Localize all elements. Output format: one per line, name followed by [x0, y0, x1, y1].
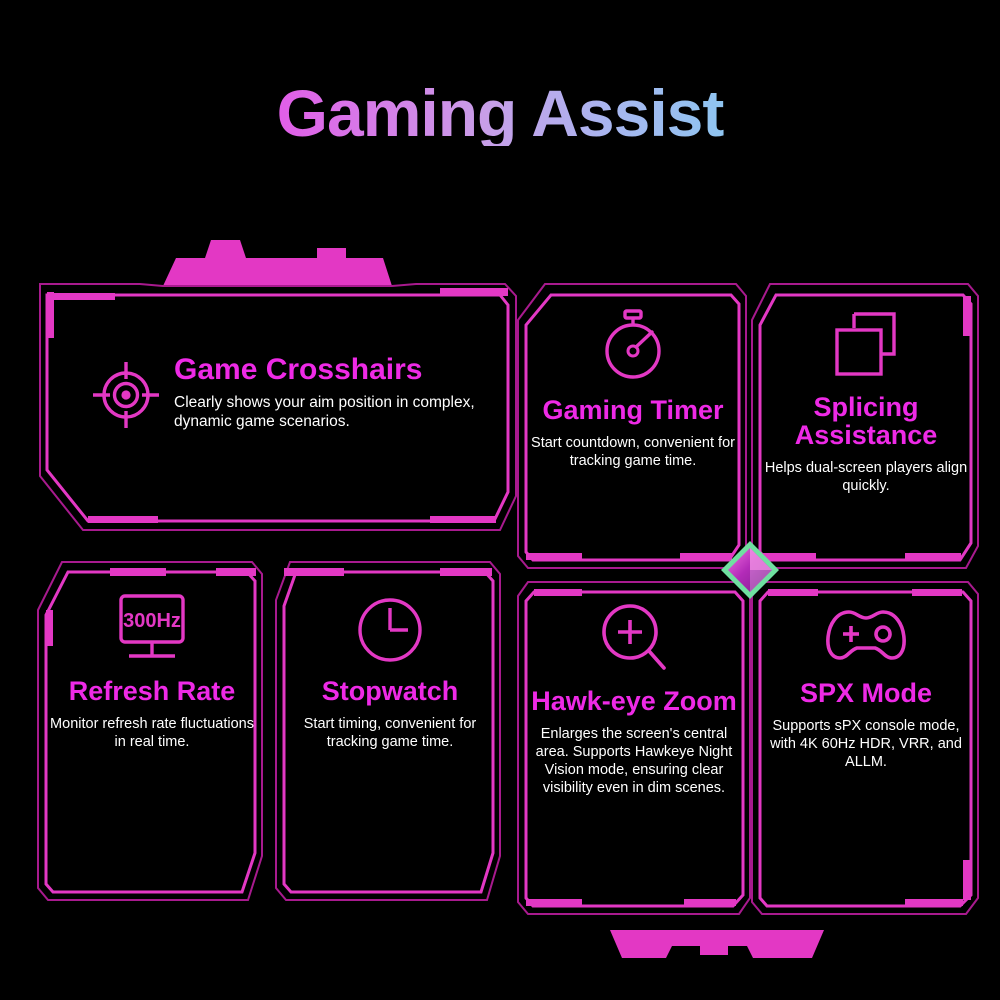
monitor-icon: 300Hz: [109, 592, 195, 668]
card-body: Monitor refresh rate fluctuations in rea…: [48, 715, 256, 751]
card-gaming-timer[interactable]: Gaming Timer Start countdown, convenient…: [528, 305, 738, 470]
overlapping-squares-icon: [824, 308, 908, 382]
card-heading: Hawk-eye Zoom: [528, 688, 740, 716]
stopwatch-icon: [595, 305, 671, 385]
diamond-gem-icon: [721, 541, 779, 599]
top-crest-shape: [163, 240, 392, 286]
card-body: Supports sPX console mode, with 4K 60Hz …: [762, 717, 970, 771]
magnifier-plus-icon: [594, 598, 674, 678]
card-heading: Splicing Assistance: [762, 394, 970, 450]
clock-icon: [351, 592, 429, 668]
card-game-crosshairs[interactable]: Game Crosshairs Clearly shows your aim p…: [90, 355, 510, 465]
card-body: Clearly shows your aim position in compl…: [174, 393, 510, 432]
card-hawk-eye-zoom[interactable]: Hawk-eye Zoom Enlarges the screen's cent…: [528, 598, 740, 797]
card-body: Start countdown, convenient for tracking…: [528, 434, 738, 470]
page-title: Gaming Assist: [0, 80, 1000, 146]
card-refresh-rate[interactable]: 300Hz Refresh Rate Monitor refresh rate …: [48, 592, 256, 751]
card-heading: Stopwatch: [288, 678, 492, 706]
card-heading: Gaming Timer: [528, 397, 738, 425]
bottom-crest-shape: [610, 930, 824, 958]
crosshair-target-icon: [90, 359, 162, 431]
card-body: Enlarges the screen's central area. Supp…: [528, 725, 740, 798]
monitor-hz-label: 300Hz: [123, 610, 181, 632]
infographic-root: Gaming Assist: [0, 0, 1000, 1000]
gamepad-icon: [819, 598, 913, 670]
card-body: Helps dual-screen players align quickly.: [762, 459, 970, 495]
card-stopwatch[interactable]: Stopwatch Start timing, convenient for t…: [288, 592, 492, 751]
card-heading: Game Crosshairs: [174, 355, 510, 386]
card-splicing-assistance[interactable]: Splicing Assistance Helps dual-screen pl…: [762, 308, 970, 495]
card-body: Start timing, convenient for tracking ga…: [288, 715, 492, 751]
card-frames-layer: [0, 0, 1000, 1000]
card-spx-mode[interactable]: SPX Mode Supports sPX console mode, with…: [762, 598, 970, 771]
card-heading: SPX Mode: [762, 680, 970, 708]
card-heading: Refresh Rate: [48, 678, 256, 706]
